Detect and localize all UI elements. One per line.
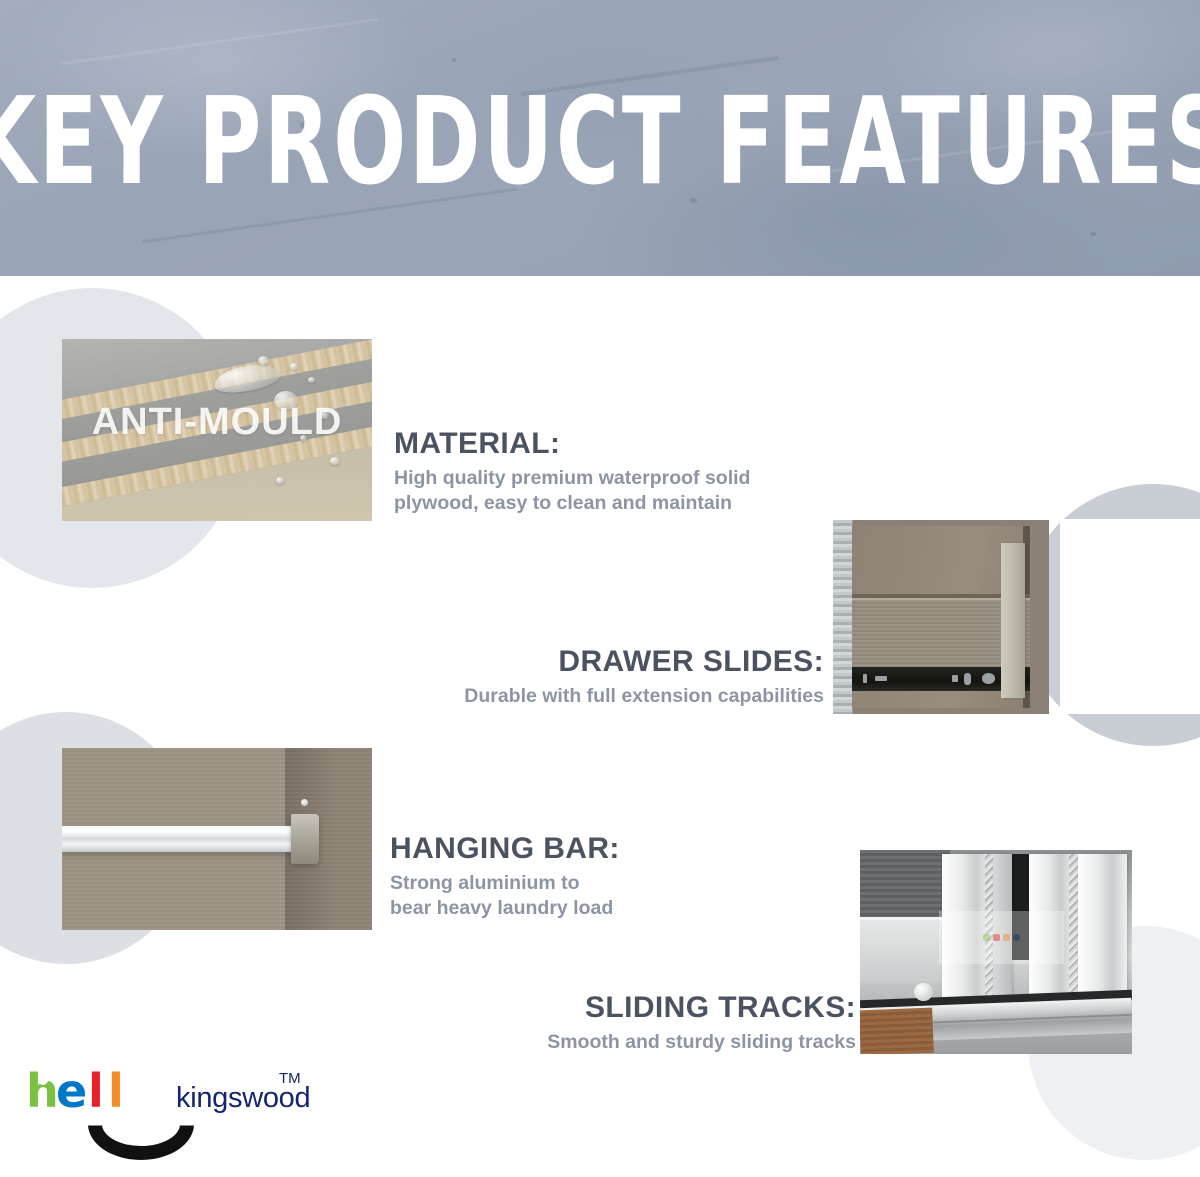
- feature-heading-drawer-slides: DRAWER SLIDES:: [378, 645, 824, 679]
- sliding-door-panel: [1078, 854, 1127, 1001]
- logo-wordmark: h e l l kingswood TM: [26, 1068, 306, 1116]
- water-droplet: [330, 457, 340, 465]
- rail-mounting-bracket: [291, 814, 319, 865]
- feature-body-material: High quality premium waterproof solid pl…: [394, 466, 834, 517]
- watermark-dot: [993, 934, 1000, 941]
- brand-logo: h e l l kingswood TM: [26, 1068, 306, 1162]
- logo-letter-l-orange: l: [108, 1068, 124, 1114]
- drawer-slide-photo: [833, 520, 1049, 714]
- feature-heading-hanging-bar: HANGING BAR:: [390, 832, 720, 866]
- decor-white-panel: [1060, 519, 1200, 714]
- page-title: KEY PRODUCT FEATURES: [48, 0, 1152, 276]
- feature-text-hanging-bar: HANGING BAR: Strong aluminium to bear he…: [390, 832, 720, 922]
- feature-text-material: MATERIAL: High quality premium waterproo…: [394, 427, 834, 517]
- water-droplet: [276, 477, 284, 484]
- anti-mould-overlay-label: ANTI-MOULD: [62, 401, 372, 444]
- feature-heading-material: MATERIAL:: [394, 427, 834, 461]
- rail-detail: [964, 673, 971, 685]
- hanging-bar-photo: [62, 748, 372, 930]
- infographic-page: KEY PRODUCT FEATURES ANTI-MOULD MATERIAL…: [0, 0, 1200, 1177]
- header-banner: KEY PRODUCT FEATURES: [0, 0, 1200, 276]
- watermark-dot: [1003, 934, 1010, 941]
- feature-body-drawer-slides: Durable with full extension capabilities: [378, 684, 824, 710]
- feature-heading-sliding-tracks: SLIDING TRACKS:: [490, 991, 856, 1025]
- dark-panel-背景: [860, 850, 950, 917]
- water-droplet: [308, 377, 315, 383]
- feature-body-sliding-tracks: Smooth and sturdy sliding tracks: [490, 1030, 856, 1056]
- water-droplet: [258, 356, 269, 365]
- sliding-track-photo: [860, 850, 1132, 1054]
- cabinet-side-panel: [833, 520, 852, 714]
- logo-letter-e: e: [56, 1068, 87, 1114]
- feature-text-drawer-slides: DRAWER SLIDES: Durable with full extensi…: [378, 645, 824, 709]
- rail-detail: [863, 674, 867, 683]
- aluminium-hanging-rail: [62, 826, 304, 851]
- feature-body-hanging-bar: Strong aluminium to bear heavy laundry l…: [390, 871, 720, 922]
- trademark-symbol: TM: [279, 1070, 301, 1087]
- logo-smile-icon: [88, 1124, 194, 1166]
- rail-detail: [875, 676, 887, 681]
- watermark-overlay: [939, 911, 1064, 964]
- rail-detail: [982, 673, 995, 683]
- drawer-front-panel: [1001, 543, 1025, 698]
- watermark-dot: [983, 934, 990, 941]
- logo-letter-l-red: l: [88, 1068, 104, 1114]
- watermark-dot: [1013, 934, 1020, 941]
- plywood-sheets-photo: ANTI-MOULD: [62, 339, 372, 521]
- wooden-base-trim: [860, 1008, 934, 1054]
- feature-text-sliding-tracks: SLIDING TRACKS: Smooth and sturdy slidin…: [490, 991, 856, 1055]
- water-droplet: [290, 363, 298, 370]
- rear-panel: [860, 917, 950, 981]
- rail-detail: [952, 675, 958, 682]
- mounting-screw: [301, 799, 308, 806]
